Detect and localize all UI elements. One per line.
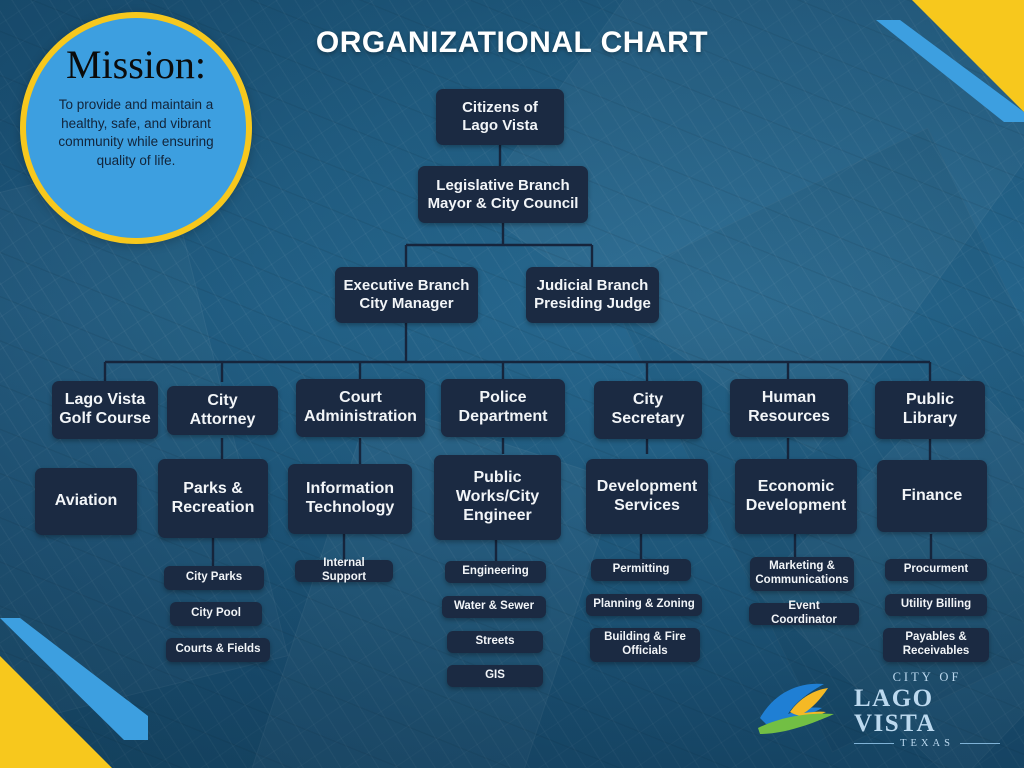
node-label-line1: Court xyxy=(304,389,417,408)
node-payables-and-receivables[interactable]: Payables & Receivables xyxy=(883,628,989,662)
node-legislative-line1: Legislative Branch xyxy=(428,177,579,195)
node-label-line2: Golf Course xyxy=(59,410,151,429)
node-development-services[interactable]: DevelopmentServices xyxy=(586,459,708,534)
node-label: Streets xyxy=(476,635,515,649)
node-marketing-and-communications[interactable]: Marketing & Communications xyxy=(750,557,854,591)
node-parks-and-recreation[interactable]: Parks &Recreation xyxy=(158,459,268,538)
logo-line-city-of: CITY OF xyxy=(893,671,962,684)
node-citizens-line1: Citizens of xyxy=(462,99,538,117)
node-public-library[interactable]: PublicLibrary xyxy=(875,381,985,439)
node-label-line1: Marketing & xyxy=(755,560,848,574)
node-label-line1: Aviation xyxy=(55,492,118,511)
node-label: Utility Billing xyxy=(901,598,971,612)
node-lago-vista-golf-course[interactable]: Lago VistaGolf Course xyxy=(52,381,158,439)
node-label-line2: Communications xyxy=(755,574,848,588)
node-water-and-sewer[interactable]: Water & Sewer xyxy=(442,596,546,618)
logo-line-texas: TEXAS xyxy=(854,739,1000,750)
node-label-line1: Parks & xyxy=(172,480,255,499)
node-judicial-line1: Judicial Branch xyxy=(534,277,651,295)
node-label-line2: Development xyxy=(746,497,846,516)
node-information-technology[interactable]: InformationTechnology xyxy=(288,464,412,534)
node-label-line1: Economic xyxy=(746,478,846,497)
node-label: City Pool xyxy=(191,607,241,621)
node-label-line3: Engineer xyxy=(456,507,539,526)
node-label-line1: Human xyxy=(748,389,830,408)
node-label-line2: Recreation xyxy=(172,499,255,518)
node-city-secretary[interactable]: CitySecretary xyxy=(594,381,702,439)
node-finance[interactable]: Finance xyxy=(877,460,987,532)
node-citizens[interactable]: Citizens of Lago Vista xyxy=(436,89,564,145)
node-label: Water & Sewer xyxy=(454,600,534,614)
node-label-line2: Works/City xyxy=(456,488,539,507)
node-judicial-line2: Presiding Judge xyxy=(534,295,651,313)
node-court-administration[interactable]: CourtAdministration xyxy=(296,379,425,437)
node-planning-and-zoning[interactable]: Planning & Zoning xyxy=(586,594,702,616)
node-label-line2: Library xyxy=(903,410,957,429)
node-courts-and-fields[interactable]: Courts & Fields xyxy=(166,638,270,662)
node-citizens-line2: Lago Vista xyxy=(462,117,538,135)
node-label-line1: Building & Fire xyxy=(604,631,686,645)
node-label: Event Coordinator xyxy=(755,600,853,627)
node-city-pool[interactable]: City Pool xyxy=(170,602,262,626)
node-engineering[interactable]: Engineering xyxy=(445,561,546,583)
city-logo: CITY OF LAGO VISTA TEXAS xyxy=(754,674,1000,746)
node-label-line2: Services xyxy=(597,497,697,516)
node-label: City Parks xyxy=(186,571,242,585)
node-label-line1: Information xyxy=(306,480,395,499)
node-label-line2: Technology xyxy=(306,499,395,518)
node-public-works-city-engineer[interactable]: PublicWorks/CityEngineer xyxy=(434,455,561,540)
logo-rule-left xyxy=(854,743,894,744)
mission-circle: Mission: To provide and maintain a healt… xyxy=(20,12,252,244)
node-label-line1: City xyxy=(612,391,685,410)
node-legislative-branch[interactable]: Legislative Branch Mayor & City Council xyxy=(418,166,588,223)
node-executive-line2: City Manager xyxy=(344,295,470,313)
node-label-line1: Public xyxy=(456,469,539,488)
node-city-parks[interactable]: City Parks xyxy=(164,566,264,590)
logo-rule-right xyxy=(960,743,1000,744)
node-gis[interactable]: GIS xyxy=(447,665,543,687)
node-judicial-branch[interactable]: Judicial Branch Presiding Judge xyxy=(526,267,659,323)
node-label-line1: Police xyxy=(459,389,548,408)
node-label-line2: Resources xyxy=(748,408,830,427)
node-label-line2: Secretary xyxy=(612,410,685,429)
node-building-and-fire-officials[interactable]: Building & Fire Officials xyxy=(590,628,700,662)
logo-texas-text: TEXAS xyxy=(900,739,954,750)
node-label: GIS xyxy=(485,669,505,683)
mission-body: To provide and maintain a healthy, safe,… xyxy=(48,96,224,171)
node-streets[interactable]: Streets xyxy=(447,631,543,653)
node-label-line2: Receivables xyxy=(903,645,970,659)
node-utility-billing[interactable]: Utility Billing xyxy=(885,594,987,616)
node-permitting[interactable]: Permitting xyxy=(591,559,691,581)
node-label: Courts & Fields xyxy=(176,643,261,657)
node-event-coordinator[interactable]: Event Coordinator xyxy=(749,603,859,625)
node-label-line1: Finance xyxy=(902,487,962,506)
node-label: Permitting xyxy=(613,563,670,577)
node-legislative-line2: Mayor & City Council xyxy=(428,195,579,213)
node-executive-branch[interactable]: Executive Branch City Manager xyxy=(335,267,478,323)
node-executive-line1: Executive Branch xyxy=(344,277,470,295)
node-police-department[interactable]: PoliceDepartment xyxy=(441,379,565,437)
mission-heading: Mission: xyxy=(66,44,206,86)
node-label: Engineering xyxy=(462,565,528,579)
node-human-resources[interactable]: HumanResources xyxy=(730,379,848,437)
node-label-line2: Officials xyxy=(604,645,686,659)
node-label-line1: Lago Vista xyxy=(59,391,151,410)
node-label-line1: City Attorney xyxy=(173,392,272,430)
node-aviation[interactable]: Aviation xyxy=(35,468,137,535)
node-procurement[interactable]: Procurment xyxy=(885,559,987,581)
node-city-attorney[interactable]: City Attorney xyxy=(167,386,278,435)
node-label: Internal Support xyxy=(301,557,387,584)
node-label: Planning & Zoning xyxy=(593,598,695,612)
node-internal-support[interactable]: Internal Support xyxy=(295,560,393,582)
logo-line-lago-vista: LAGO VISTA xyxy=(854,686,1000,736)
logo-wordmark: CITY OF LAGO VISTA TEXAS xyxy=(854,671,1000,749)
node-economic-development[interactable]: EconomicDevelopment xyxy=(735,459,857,534)
node-label-line1: Payables & xyxy=(903,631,970,645)
node-label-line1: Public xyxy=(903,391,957,410)
node-label: Procurment xyxy=(904,563,969,577)
node-label-line1: Development xyxy=(597,478,697,497)
node-label-line2: Administration xyxy=(304,408,417,427)
node-label-line2: Department xyxy=(459,408,548,427)
lago-vista-swoosh-icon xyxy=(754,678,846,742)
